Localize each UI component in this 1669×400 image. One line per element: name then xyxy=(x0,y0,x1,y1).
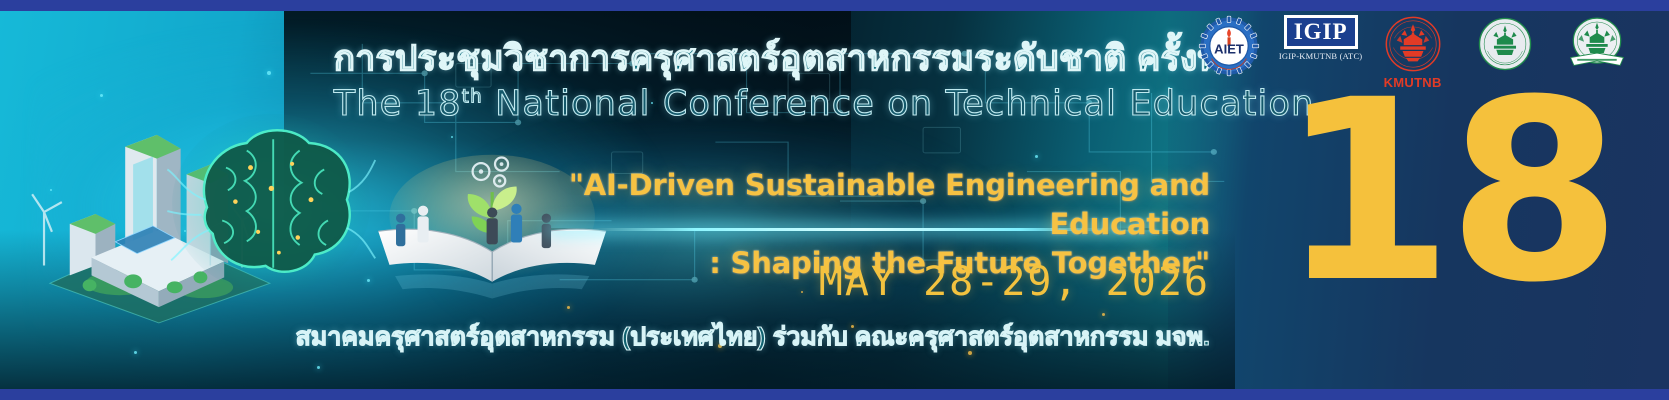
english-conference-title: The 18th National Conference on Technica… xyxy=(334,84,1202,124)
kmutnb-seal-icon xyxy=(1384,15,1442,73)
logo-strip: AIET IGIP IGIP-KMUTNB (ATC) xyxy=(1190,15,1636,90)
igip-caption: IGIP-KMUTNB (ATC) xyxy=(1279,51,1362,61)
theme-line-1: "AI-Driven Sustainable Engineering and E… xyxy=(401,166,1210,244)
ordinal-suffix: th xyxy=(462,87,483,108)
green-seal-logo-2 xyxy=(1558,15,1636,73)
conference-date: MAY 28-29, 2026 xyxy=(601,259,1210,305)
igip-logo: IGIP IGIP-KMUTNB (ATC) xyxy=(1282,15,1360,61)
igip-text: IGIP xyxy=(1294,20,1348,44)
faculty-seal-icon-2 xyxy=(1566,15,1628,73)
kmutnb-logo: KMUTNB xyxy=(1374,15,1452,90)
thai-conference-title: การประชุมวิชาการครุศาสตร์อุตสาหกรรมระดับ… xyxy=(334,37,1202,81)
kmutnb-caption: KMUTNB xyxy=(1384,75,1442,90)
igip-wordmark: IGIP xyxy=(1284,15,1358,49)
organizers-line: สมาคมครุศาสตร์อุตสาหกรรม (ประเทศไทย) ร่ว… xyxy=(267,317,1210,357)
aiet-gear-icon: AIET xyxy=(1198,15,1260,77)
faculty-seal-icon-1 xyxy=(1476,15,1534,73)
aiet-logo: AIET xyxy=(1190,15,1268,77)
conference-banner: การประชุมวิชาการครุศาสตร์อุตสาหกรรมระดับ… xyxy=(0,0,1669,400)
green-seal-logo-1 xyxy=(1466,15,1544,73)
headline-block: การประชุมวิชาการครุศาสตร์อุตสาหกรรมระดับ… xyxy=(334,37,1202,124)
edition-number: 18 xyxy=(1280,94,1616,289)
english-title-pre: The 18 xyxy=(334,84,462,124)
svg-text:AIET: AIET xyxy=(1214,41,1244,56)
english-title-post: National Conference on Technical Educati… xyxy=(483,84,1315,124)
